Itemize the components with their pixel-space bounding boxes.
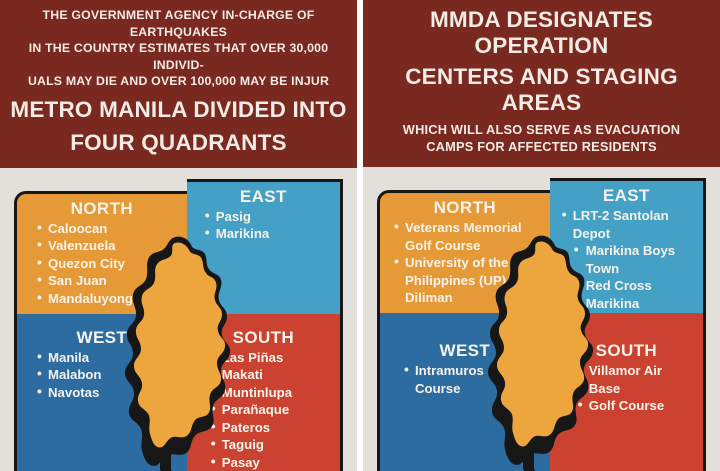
quadrant-west-title: WEST <box>388 341 542 361</box>
infographic-root: THE GOVERNMENT AGENCY IN-CHARGE OF EARTH… <box>0 0 720 471</box>
list-item: Muntinlupa <box>209 384 332 402</box>
quadrant-north-list: Veterans Memorial Golf Course University… <box>392 219 542 307</box>
quadrant-east-title: EAST <box>558 186 695 206</box>
header-title-line-1: METRO MANILA DIVIDED INTO <box>10 97 347 123</box>
list-item: Pasay <box>209 454 332 471</box>
panel-quadrants: THE GOVERNMENT AGENCY IN-CHARGE OF EARTH… <box>0 0 357 471</box>
quadrant-east-list: LRT-2 Santolan Depot Marikina Boys Town … <box>560 207 695 312</box>
header-sub-line-2: CAMPS FOR AFFECTED RESIDENTS <box>373 138 710 155</box>
list-item: Manila <box>35 349 179 367</box>
quadrant-board-wrap-left: NORTH Caloocan Valenzuela Quezon City Sa… <box>0 168 357 471</box>
header-title-line-1: MMDA DESIGNATES OPERATION <box>373 7 710 59</box>
quadrant-north-title: NORTH <box>25 199 179 219</box>
quadrant-east-list: Pasig Marikina <box>203 208 332 243</box>
panel-operation-centers-header: MMDA DESIGNATES OPERATION CENTERS AND ST… <box>363 0 720 167</box>
quadrant-south-title: SOUTH <box>195 328 332 348</box>
list-item: Intramuros Golf Course <box>402 362 542 397</box>
list-item: Marikina Boys Town <box>560 242 695 277</box>
list-item: LRT-2 Santolan Depot <box>560 207 695 242</box>
quadrant-board-left: NORTH Caloocan Valenzuela Quezon City Sa… <box>14 179 343 471</box>
list-item: Malabon <box>35 366 179 384</box>
quadrant-west: WEST Intramuros Golf Course <box>377 313 550 471</box>
quadrant-east: EAST LRT-2 Santolan Depot Marikina Boys … <box>550 178 706 313</box>
quadrant-west-list: Intramuros Golf Course <box>402 362 542 397</box>
quadrant-south: SOUTH Villamor Air Base Golf Course <box>550 313 706 471</box>
list-item: Veterans Memorial Golf Course <box>392 219 542 254</box>
list-item: Red Cross Marikina <box>560 277 695 312</box>
quadrant-north-title: NORTH <box>388 198 542 218</box>
header-title-line-2: FOUR QUADRANTS <box>10 130 347 156</box>
quadrant-board-right: NORTH Veterans Memorial Golf Course Univ… <box>377 178 706 471</box>
header-lead-line-3: UALS MAY DIE AND OVER 100,000 MAY BE INJ… <box>10 73 347 90</box>
list-item: Parañaque <box>209 401 332 419</box>
list-item: San Juan <box>35 272 179 290</box>
quadrant-east-title: EAST <box>195 187 332 207</box>
header-lead-line-1: THE GOVERNMENT AGENCY IN-CHARGE OF EARTH… <box>10 7 347 40</box>
list-item: Makati <box>209 366 332 384</box>
quadrant-west-title: WEST <box>25 328 179 348</box>
quadrant-south-list: Las Piñas Makati Muntinlupa Parañaque Pa… <box>209 349 332 471</box>
quadrant-south-title: SOUTH <box>558 341 695 361</box>
list-item: Quezon City <box>35 255 179 273</box>
list-item: Navotas <box>35 384 179 402</box>
panel-operation-centers: MMDA DESIGNATES OPERATION CENTERS AND ST… <box>363 0 720 471</box>
panel-quadrants-header: THE GOVERNMENT AGENCY IN-CHARGE OF EARTH… <box>0 0 357 168</box>
header-sub-line-1: WHICH WILL ALSO SERVE AS EVACUATION <box>373 121 710 138</box>
list-item: Pateros <box>209 419 332 437</box>
list-item: University of the Philippines (UP) Dilim… <box>392 254 542 307</box>
list-item: Golf Course <box>576 397 695 415</box>
list-item: Pasig <box>203 208 332 226</box>
quadrant-east: EAST Pasig Marikina <box>187 179 343 314</box>
quadrant-north: NORTH Caloocan Valenzuela Quezon City Sa… <box>14 191 187 314</box>
quadrant-north: NORTH Veterans Memorial Golf Course Univ… <box>377 190 550 313</box>
quadrant-south-list: Villamor Air Base Golf Course <box>576 362 695 415</box>
list-item: Villamor Air Base <box>576 362 695 397</box>
list-item: Caloocan <box>35 220 179 238</box>
header-title-line-2: CENTERS AND STAGING AREAS <box>373 64 710 116</box>
list-item: Taguig <box>209 436 332 454</box>
list-item: Mandaluyong <box>35 290 179 308</box>
list-item: Las Piñas <box>209 349 332 367</box>
header-lead-line-2: IN THE COUNTRY ESTIMATES THAT OVER 30,00… <box>10 40 347 73</box>
quadrant-board-wrap-right: NORTH Veterans Memorial Golf Course Univ… <box>363 167 720 471</box>
list-item: Marikina <box>203 225 332 243</box>
quadrant-west-list: Manila Malabon Navotas <box>35 349 179 402</box>
quadrant-north-list: Caloocan Valenzuela Quezon City San Juan… <box>35 220 179 308</box>
list-item: Valenzuela <box>35 237 179 255</box>
quadrant-west: WEST Manila Malabon Navotas <box>14 314 187 471</box>
quadrant-south: SOUTH Las Piñas Makati Muntinlupa Paraña… <box>187 314 343 471</box>
